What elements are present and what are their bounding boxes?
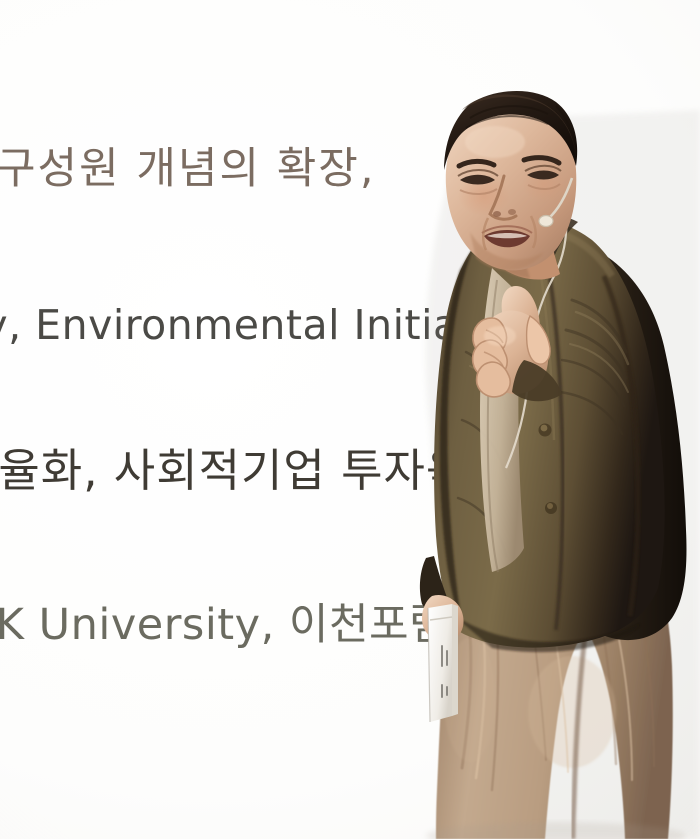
slide-line-2: ry, Environmental Initiati — [0, 305, 487, 346]
slide-text-layer: 구성원 개념의 확장, ry, Environmental Initiati 효… — [0, 0, 700, 839]
slide-line-1: 구성원 개념의 확장, — [0, 148, 376, 191]
slide-line-4: SK University, 이천포럼 — [0, 604, 449, 647]
presentation-photo: 구성원 개념의 확장, ry, Environmental Initiati 효… — [0, 0, 700, 839]
slide-line-3: 효율화, 사회적기업 투자육 — [0, 448, 468, 493]
